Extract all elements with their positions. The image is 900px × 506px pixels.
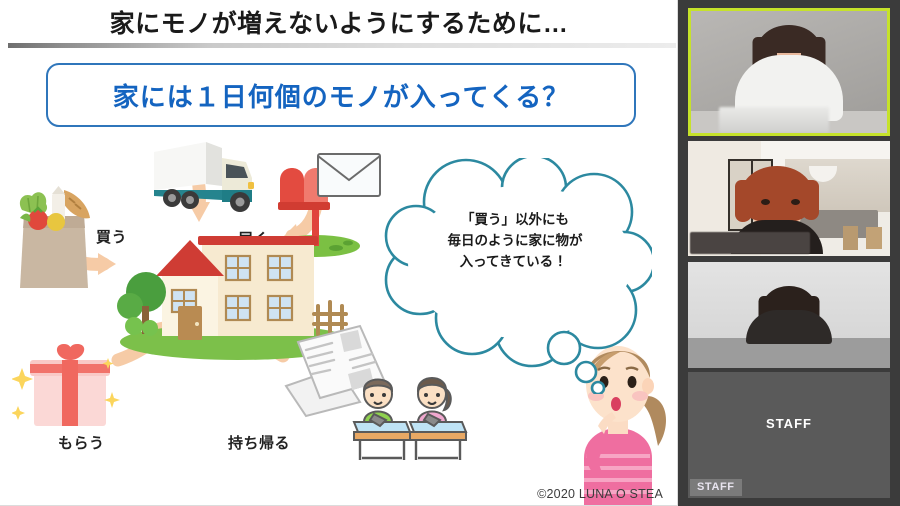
- video-feed-participant-1: [691, 11, 887, 133]
- title-divider: [8, 43, 676, 48]
- video-tile-participant-2[interactable]: [688, 141, 890, 256]
- video-tile-participant-1[interactable]: [688, 8, 890, 136]
- presentation-slide: 家にモノが増えないようにするために… 家には１日何個のモノが入ってくる？: [0, 0, 678, 506]
- video-tile-staff[interactable]: STAFF STAFF: [688, 372, 890, 498]
- thought-bubble-tails: [538, 328, 608, 394]
- staff-name-badge: STAFF: [690, 479, 742, 496]
- students-at-desks-icon: [352, 370, 472, 466]
- page-title: 家にモノが増えないようにするために…: [0, 4, 678, 40]
- video-feed-participant-2: [688, 141, 890, 256]
- gift-box-icon: [12, 334, 124, 438]
- video-tile-participant-3[interactable]: [688, 262, 890, 368]
- screen: 家にモノが増えないようにするために… 家には１日何個のモノが入ってくる？: [0, 0, 900, 506]
- video-participant-panel: STAFF STAFF: [678, 0, 900, 506]
- envelope-icon: [316, 150, 382, 202]
- delivery-truck-icon: [148, 132, 264, 218]
- copyright-text: ©2020 LUNA O STEA: [537, 487, 663, 501]
- grocery-bag-icon: [8, 180, 100, 292]
- label-receive: もらう: [58, 432, 105, 453]
- question-text: 家には１日何個のモノが入ってくる？: [113, 77, 569, 114]
- label-bring-home: 持ち帰る: [228, 432, 290, 453]
- video-feed-participant-3: [688, 262, 890, 368]
- thought-bubble-text: 「買う」以外にも 毎日のように家に物が 入ってきている ！: [400, 210, 630, 273]
- inflow-cycle-diagram: 買う: [0, 132, 678, 506]
- staff-display-name: STAFF: [766, 416, 812, 431]
- question-callout-box: 家には１日何個のモノが入ってくる？: [46, 63, 636, 127]
